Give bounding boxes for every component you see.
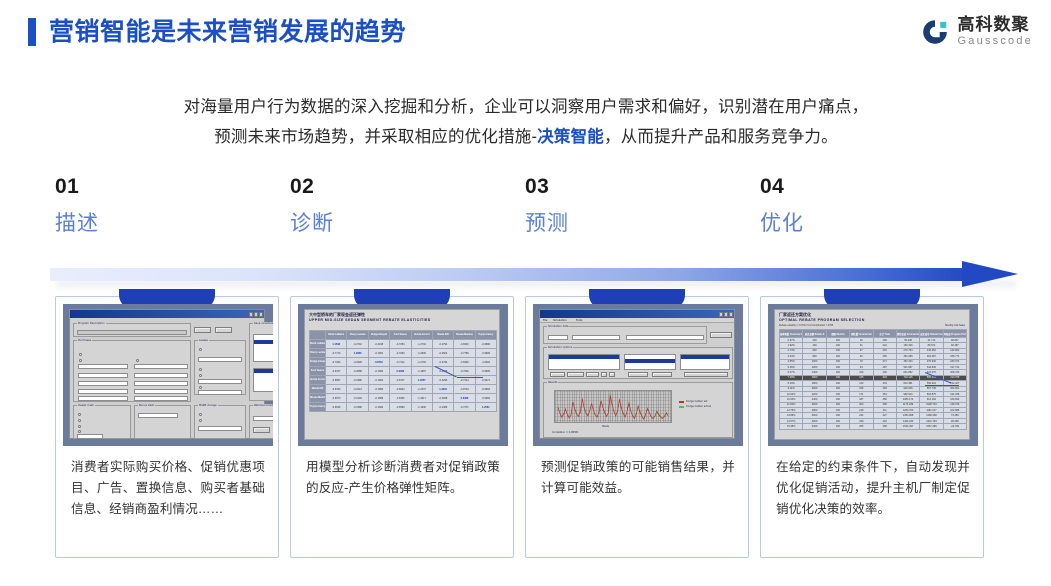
group-simulation-data: Simulation data [543, 326, 707, 344]
cross-elasticity-cell: -0.2213 [347, 385, 368, 394]
cross-elasticity-cell: -0.7254 [390, 340, 411, 349]
cross-elasticity-cell: -1.2702 [411, 340, 432, 349]
move-up-button[interactable] [601, 372, 607, 377]
column-header: Dodge Intrepid [368, 331, 389, 340]
step-03: 03 预测 [525, 176, 745, 234]
cross-elasticity-cell: -0.6904 [390, 385, 411, 394]
cross-elasticity-cell: -0.9962 [475, 394, 496, 403]
table-row: Dodge Intrepid-0.7284-0.29280.8752-0.711… [310, 358, 497, 367]
add-button[interactable] [550, 372, 565, 377]
own-elasticity-cell: 1.1548 [326, 340, 347, 349]
maximize-icon [254, 312, 258, 317]
table-cell: 3400 [803, 424, 826, 429]
column-header: 总计 Total [873, 330, 896, 338]
step-04: 04 优化 [760, 176, 980, 234]
logo-name-en: Gausscode [958, 36, 1033, 47]
radio-select-cash[interactable] [78, 419, 81, 422]
group-simulation-options: Simulation options [543, 347, 733, 379]
page-title: 营销智能是未来营销发展的趋势 [49, 20, 406, 45]
lead-line-2-after: ，从而提升产品和服务竞争力。 [604, 128, 838, 146]
chart-line-estimated [558, 395, 668, 419]
retrieve-model-select[interactable] [253, 416, 273, 421]
column-header: Toyota Camry [475, 331, 496, 340]
select-term-36[interactable] [78, 381, 128, 386]
group-leases: Leases [194, 340, 246, 395]
group-dealer-cash: Dealer Cash [73, 405, 131, 439]
step-number: 03 [525, 176, 745, 197]
row-header: Ford Taurus [310, 367, 326, 376]
group-title: Simulation data [547, 325, 569, 328]
model-list[interactable] [624, 354, 676, 370]
title-row: 营销智能是未来营销发展的趋势 [28, 18, 406, 46]
select-rate-subsidy[interactable] [198, 379, 242, 384]
cross-elasticity-cell: -0.6589 [390, 403, 411, 412]
card-caption: 在给定的约束条件下，自动发现并优化促销活动，提升主机厂制定促销优化决策的效率。 [776, 457, 970, 520]
model-year-select[interactable] [548, 335, 568, 340]
column-header: 净收益 Program Profit [943, 330, 966, 338]
cross-elasticity-cell: -0.7110 [390, 358, 411, 367]
minimize-icon [719, 312, 723, 317]
table-cell: 1534.497 [896, 424, 919, 429]
row-header: Honda Accord [310, 376, 326, 385]
cross-elasticity-cell: -0.6764 [326, 385, 347, 394]
select-all-button[interactable] [628, 372, 648, 377]
cross-elasticity-cell: -0.6747 [390, 376, 411, 385]
gausscode-circle-logo-icon [920, 17, 950, 47]
dealer-cash-input[interactable] [77, 434, 103, 439]
step-number: 04 [760, 176, 980, 197]
own-elasticity-cell: 0.8752 [368, 358, 389, 367]
step-label: 优化 [760, 213, 980, 234]
cross-elasticity-cell: -0.7093 [390, 349, 411, 358]
annotation-line [925, 385, 959, 386]
cross-elasticity-cell: -0.9806 [475, 349, 496, 358]
cross-elasticity-cell: -0.1988 [347, 403, 368, 412]
select-rate-60[interactable] [134, 396, 188, 401]
elasticity-matrix-table: Buick LaSabreChevy LuminaDodge IntrepidF… [309, 330, 497, 412]
own-elasticity-cell: 1.0257 [411, 376, 432, 385]
cross-elasticity-cell: -1.2617 [411, 394, 432, 403]
step-number: 01 [55, 176, 275, 197]
row-header: Dodge Intrepid [310, 358, 326, 367]
cross-elasticity-cell: -0.6352 [390, 394, 411, 403]
card-screenshot-optimization: 厂家返还方案优化 OPTIMAL REBATE PROGRAM SELECTIO… [768, 304, 978, 446]
output-list[interactable] [680, 354, 730, 370]
minimize-icon [249, 312, 253, 317]
lead-line-2-before: 预测未来市场趋势，并采取相应的优化措施- [214, 128, 537, 146]
cross-elasticity-cell: -0.8340 [454, 340, 475, 349]
card-screenshot-elasticity: 大中型轿车的厂家现金返还弹性 UPPER MID-SIZE SEDAN SEGM… [298, 304, 508, 446]
card-screenshot-dialog: Program Description Purchases [63, 304, 273, 446]
column-header: 返还金额 Rebate $ [803, 330, 826, 338]
step-number: 02 [290, 176, 510, 197]
column-header: 返还成本 Rebate Cost [920, 330, 943, 338]
clear-button[interactable] [253, 427, 270, 433]
radio-money-factor[interactable] [199, 368, 202, 371]
cross-elasticity-cell: -0.9663 [475, 385, 496, 394]
menu-item-tools[interactable]: Tools [576, 319, 582, 322]
simulation-window: File Simulation Tools Simulation data [539, 309, 735, 439]
chart-line-actual [558, 394, 668, 419]
card-list: Program Description Purchases [0, 296, 1051, 562]
legend-swatch-actual [679, 406, 684, 408]
matrix-corner [310, 331, 326, 340]
lead-line-1: 对海量用户行为数据的深入挖掘和分析，企业可以洞察用户需求和偏好，识别潜在用户痛点… [184, 98, 869, 116]
select-term-60[interactable] [78, 396, 128, 401]
close-icon [729, 312, 733, 317]
model-selected-item[interactable] [625, 359, 675, 363]
annotation-line [457, 377, 483, 378]
card-caption: 用模型分析诊断消费者对促销政策的反应-产生价格弹性矩阵。 [306, 457, 500, 499]
group-msrp-change: MSRP change [194, 405, 246, 439]
remove-button[interactable] [567, 372, 584, 377]
radio-lease-only[interactable] [78, 430, 81, 433]
elasticity-matrix-window: 大中型轿车的厂家现金返还弹性 UPPER MID-SIZE SEDAN SEGM… [304, 309, 500, 440]
cross-elasticity-cell: -0.2742 [347, 340, 368, 349]
card-optimize[interactable]: 厂家返还方案优化 OPTIMAL REBATE PROGRAM SELECTIO… [760, 296, 984, 558]
card-caption: 消费者实际购买价格、促销优惠项目、广告、置换信息、购买者基础信息、经销商盈利情况… [71, 457, 265, 520]
select-rate-36[interactable] [134, 381, 188, 386]
column-header: Chevy Lumina [347, 331, 368, 340]
table-row: Nissan Maxima-0.6573-0.2149-0.1869-0.635… [310, 394, 497, 403]
region-select[interactable] [626, 335, 704, 340]
row-header: Chevy Lumina [310, 349, 326, 358]
step-label: 描述 [55, 213, 275, 234]
cross-elasticity-cell: -0.1991 [368, 349, 389, 358]
slide-header: 营销智能是未来营销发展的趋势 高科数聚 Gausscode [0, 0, 1051, 72]
radio-msrp-percent[interactable] [199, 419, 202, 422]
menu-bar: File Simulation Tools [540, 318, 734, 323]
step-label: 预测 [525, 213, 745, 234]
models-list[interactable] [253, 334, 273, 362]
radio-amount[interactable] [199, 386, 202, 389]
select-lease-cash[interactable] [198, 357, 242, 362]
group-title: Save incentives [253, 322, 273, 325]
row-header: Buick LaSabre [310, 340, 326, 349]
select-rebate[interactable] [78, 364, 128, 369]
progress-arrow [50, 262, 1018, 288]
cross-elasticity-cell: -1.2702 [411, 358, 432, 367]
arrow-head-icon [962, 261, 1018, 287]
cross-elasticity-cell: -0.9896 [475, 340, 496, 349]
step-01: 01 描述 [55, 176, 275, 234]
select-rate-48[interactable] [134, 389, 188, 394]
table-cell: -22.789 [943, 424, 966, 429]
radio-all-cash[interactable] [78, 425, 81, 428]
group-title: Retrieve incentives [253, 404, 273, 407]
title-accent-bar [28, 18, 36, 46]
sales-line-chart [554, 390, 672, 423]
table-row: Toyota Camry-0.6645-0.1988-0.1660-0.6589… [310, 403, 497, 412]
cross-elasticity-cell: -0.1660 [368, 403, 389, 412]
cross-elasticity-cell: -1.1936 [411, 403, 432, 412]
cross-elasticity-cell: -0.2018 [368, 340, 389, 349]
spacer [736, 332, 738, 338]
table-row: Chevy Lumina-0.77131.2683-0.1991-0.7093-… [310, 349, 497, 358]
optimization-window: 厂家返还方案优化 OPTIMAL REBATE PROGRAM SELECTIO… [774, 309, 970, 440]
dialog-body: Program Description Purchases [70, 318, 264, 438]
group-title: Results [547, 381, 558, 384]
optimization-right-note: Monthly Unit Sales [945, 324, 965, 327]
column-header: Honda Accord [411, 331, 432, 340]
msrp-input[interactable] [198, 426, 242, 431]
correlation-readout: Correlation = 0.98381 [552, 431, 579, 434]
cross-elasticity-cell: -0.2688 [347, 367, 368, 376]
simulation-body: File Simulation Tools Simulation data [540, 318, 734, 438]
radio-no-subsidy[interactable] [199, 348, 202, 351]
row-header: Mazda 626 [310, 385, 326, 394]
cross-elasticity-cell: -1.2337 [411, 385, 432, 394]
legend-label-actual: Dodge Caliber actual [686, 405, 711, 408]
cross-elasticity-cell: -0.1662 [368, 376, 389, 385]
logo-text: 高科数聚 Gausscode [958, 16, 1033, 47]
simulation-titlebar [540, 310, 734, 318]
group-results: Results Dodge Caliber est Dodge Caliber … [543, 382, 733, 438]
cross-elasticity-cell: -0.2293 [432, 376, 453, 385]
cross-elasticity-cell: -0.7371 [454, 403, 475, 412]
arrow-shaft [50, 268, 970, 281]
table-row: Buick LaSabre1.1548-0.2742-0.2018-0.7254… [310, 340, 497, 349]
table-row: Mazda 626-0.6764-0.2213-0.1890-0.6904-1.… [310, 385, 497, 394]
cross-elasticity-cell: -0.6707 [326, 367, 347, 376]
cross-elasticity-cell: -0.1986 [347, 376, 368, 385]
cross-elasticity-cell: -0.2149 [347, 394, 368, 403]
maximize-icon [724, 312, 728, 317]
radio-not-offered[interactable] [136, 359, 139, 362]
card-predict[interactable]: File Simulation Tools Simulation data [525, 296, 749, 558]
select-rate-24[interactable] [134, 373, 188, 378]
chart-xlabel: Weeks [602, 425, 609, 428]
cross-elasticity-cell: -0.1890 [368, 385, 389, 394]
optimization-subtitle: Rebate elasticity = 0.8712 Unit Contribu… [779, 324, 833, 327]
radio-no-rebate[interactable] [79, 353, 82, 356]
group-title: Purchases [77, 339, 92, 342]
clear-all-button[interactable] [652, 372, 672, 377]
close-icon [259, 312, 263, 317]
own-elasticity-cell: 0.9480 [390, 367, 411, 376]
group-save-incentives: Save incentives [249, 323, 273, 401]
cross-elasticity-cell: -0.2928 [347, 358, 368, 367]
scenario-list[interactable] [548, 354, 620, 370]
step-list: 01 描述 02 诊断 03 预测 04 优化 [0, 176, 1051, 248]
cross-elasticity-cell: -1.0602 [475, 358, 496, 367]
cross-elasticity-cell: -0.9905 [475, 367, 496, 376]
own-elasticity-cell: 1.2683 [347, 349, 368, 358]
description-input[interactable] [77, 330, 187, 335]
group-title: Simulation options [547, 346, 573, 349]
group-program-description: Program Description [73, 323, 191, 337]
column-header: Buick LaSabre [326, 331, 347, 340]
column-header: 期限 Months [826, 330, 849, 338]
cross-elasticity-cell: -0.7713 [326, 349, 347, 358]
cross-elasticity-cell: -0.6573 [326, 394, 347, 403]
legacy-dialog-window: Program Description Purchases [69, 309, 265, 439]
regions-list-selected-item[interactable] [254, 369, 273, 373]
table-cell: 160 [826, 424, 849, 429]
radio-cash-only[interactable] [78, 413, 81, 416]
group-title: Dealer Cash [77, 404, 95, 407]
own-elasticity-cell: 0.6488 [454, 394, 475, 403]
table-row: Ford Taurus-0.6707-0.2688-0.19600.9480-1… [310, 367, 497, 376]
cross-elasticity-cell: -0.7600 [454, 367, 475, 376]
cross-elasticity-cell: -0.8490 [454, 358, 475, 367]
chart-series-svg [555, 391, 671, 422]
logo-name-cn: 高科数聚 [958, 16, 1033, 33]
regions-list[interactable] [253, 368, 273, 392]
cross-elasticity-cell: -0.6897 [326, 376, 347, 385]
cross-elasticity-cell: -0.7284 [326, 358, 347, 367]
brand-logo: 高科数聚 Gausscode [920, 16, 1033, 47]
cross-elasticity-cell: -0.7786 [454, 349, 475, 358]
card-describe[interactable]: Program Description Purchases [55, 296, 279, 558]
menu-item-file[interactable]: File [543, 319, 547, 322]
residual-input[interactable] [198, 390, 242, 395]
group-title: Program Description [77, 322, 106, 325]
radio-apr[interactable] [199, 374, 202, 377]
edit-button[interactable] [586, 372, 599, 377]
output-selected-item[interactable] [681, 355, 729, 359]
select-apr-combo[interactable] [134, 364, 188, 369]
optimization-table: 效率指数 Customer Price返还金额 Rebate $期限 Month… [779, 329, 967, 430]
table-cell: 1557.286 [920, 424, 943, 429]
column-header: Mazda 626 [432, 331, 453, 340]
run-button[interactable] [710, 332, 732, 338]
bonus-cash-input[interactable] [138, 413, 178, 418]
cross-elasticity-cell: -0.8704 [454, 385, 475, 394]
cross-elasticity-cell: -0.2794 [432, 340, 453, 349]
column-header: 效率指数 Customer Price [780, 330, 803, 338]
column-header: 销售量 Incremental [850, 330, 873, 338]
cross-elasticity-cell: -0.1869 [368, 394, 389, 403]
select-term-24[interactable] [78, 373, 128, 378]
cross-elasticity-cell: -0.2386 [432, 403, 453, 412]
column-header: Ford Taurus [390, 331, 411, 340]
cross-elasticity-cell: -0.6645 [326, 403, 347, 412]
column-header: 销售收益 Incremental Contribution [896, 330, 919, 338]
own-elasticity-cell: 1.4291 [432, 385, 453, 394]
step-label: 诊断 [290, 213, 510, 234]
menu-item-simulation[interactable]: Simulation [553, 319, 567, 322]
cross-elasticity-cell: -1.2606 [411, 349, 432, 358]
step-02: 02 诊断 [290, 176, 510, 234]
radio-msrp-amount[interactable] [199, 413, 202, 416]
group-title: Leases [198, 339, 209, 342]
card-screenshot-simulation: File Simulation Tools Simulation data [533, 304, 743, 446]
own-elasticity-cell: 1.2561 [475, 403, 496, 412]
legend-swatch-estimated [679, 401, 684, 403]
table-cell: 458 [873, 424, 896, 429]
group-purchases: Purchases [73, 340, 191, 402]
card-diagnose[interactable]: 大中型轿车的厂家现金返还弹性 UPPER MID-SIZE SEDAN SEGM… [290, 296, 514, 558]
card-caption: 预测促销政策的可能销售结果，并计算可能效益。 [541, 457, 735, 499]
cross-elasticity-cell: -0.2838 [432, 394, 453, 403]
scenario-selected-item[interactable] [549, 355, 619, 359]
dialog-titlebar [70, 310, 264, 318]
row-header: Nissan Maxima [310, 394, 326, 403]
radio-apr-subsidy[interactable] [79, 359, 82, 362]
row-header: Toyota Camry [310, 403, 326, 412]
models-list-selected-item[interactable] [254, 340, 273, 344]
group-title: MSRP change [198, 404, 218, 407]
column-header: Nissan Maxima [454, 331, 475, 340]
close-button[interactable] [215, 327, 232, 333]
group-bonus-cash: Bonus Cash [134, 405, 191, 439]
select-term-48[interactable] [78, 389, 128, 394]
table-cell: 15.48% [780, 424, 803, 429]
group-title: Bonus Cash [138, 404, 155, 407]
optimization-title-en: OPTIMAL REBATE PROGRAM SELECTION [779, 318, 865, 322]
slide-root: 营销智能是未来营销发展的趋势 高科数聚 Gausscode 对海量用户行为数据的… [0, 0, 1051, 586]
move-down-button[interactable] [609, 372, 615, 377]
group-retrieve-incentives: Retrieve incentives [249, 405, 273, 439]
lead-paragraph: 对海量用户行为数据的深入挖掘和分析，企业可以洞察用户需求和偏好，识别潜在用户痛点… [52, 92, 1000, 152]
cross-elasticity-cell: -0.2602 [432, 349, 453, 358]
segment-select[interactable] [572, 335, 620, 340]
legend-label-estimated: Dodge Caliber est [686, 400, 707, 403]
elasticity-title-en: UPPER MID-SIZE SEDAN SEGMENT REBATE ELAS… [309, 318, 431, 322]
cross-elasticity-cell: -0.1960 [368, 367, 389, 376]
cross-elasticity-cell: -0.2794 [432, 358, 453, 367]
table-cell: 265 [850, 424, 873, 429]
graph-button[interactable] [684, 372, 728, 377]
table-row: 15.48%34001602654581534.4971557.286-22.7… [780, 424, 967, 429]
save-button[interactable] [194, 327, 211, 333]
cross-elasticity-cell: -1.1697 [411, 367, 432, 376]
lead-highlight: 决策智能 [537, 128, 604, 146]
